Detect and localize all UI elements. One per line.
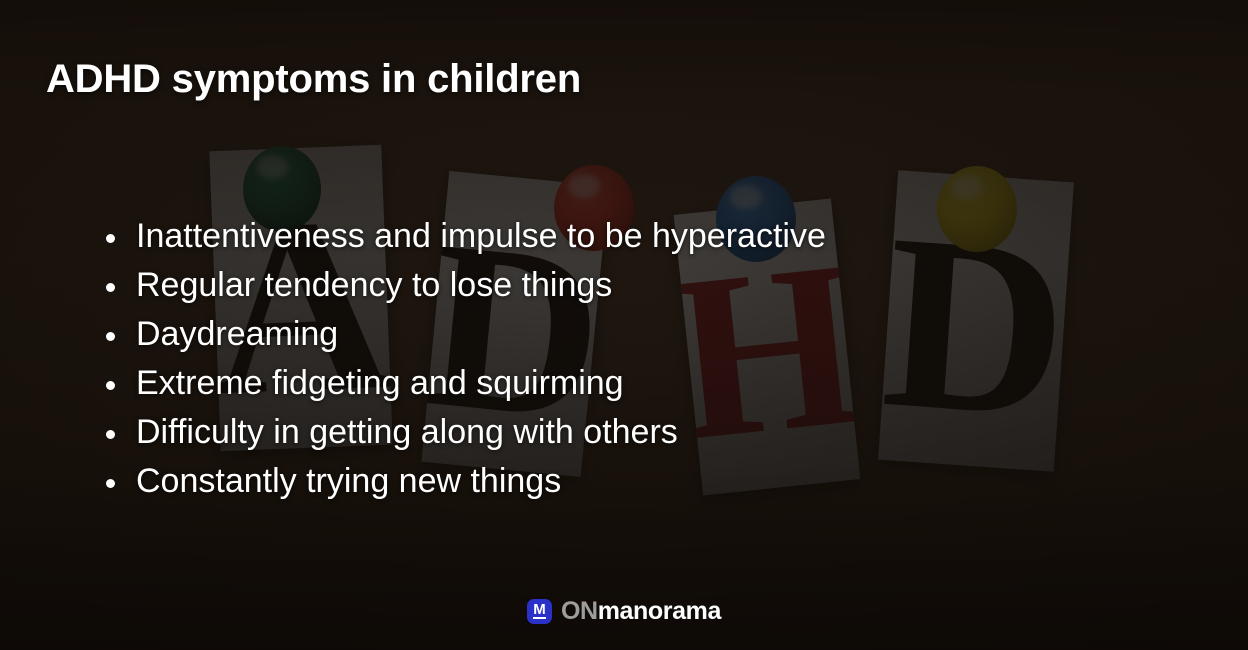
list-item: Difficulty in getting along with others (104, 408, 826, 457)
manorama-badge-underline (533, 617, 546, 619)
symptom-list: Inattentiveness and impulse to be hypera… (104, 212, 826, 506)
onmanorama-logo: M ONmanorama (0, 599, 1248, 624)
page-title: ADHD symptoms in children (46, 57, 581, 102)
logo-wordmark: ONmanorama (561, 599, 721, 624)
list-item: Daydreaming (104, 310, 826, 359)
logo-name: manorama (598, 597, 721, 625)
slide-content: ADHD symptoms in children Inattentivenes… (0, 0, 1248, 650)
manorama-badge-icon: M (527, 599, 552, 624)
list-item: Extreme fidgeting and squirming (104, 359, 826, 408)
list-item: Regular tendency to lose things (104, 261, 826, 310)
logo-prefix: ON (561, 597, 598, 625)
manorama-badge-letter: M (533, 604, 546, 615)
list-item: Inattentiveness and impulse to be hypera… (104, 212, 826, 261)
list-item: Constantly trying new things (104, 457, 826, 506)
slide-root: A D H D ADHD symptoms in children Inatte… (0, 0, 1248, 650)
